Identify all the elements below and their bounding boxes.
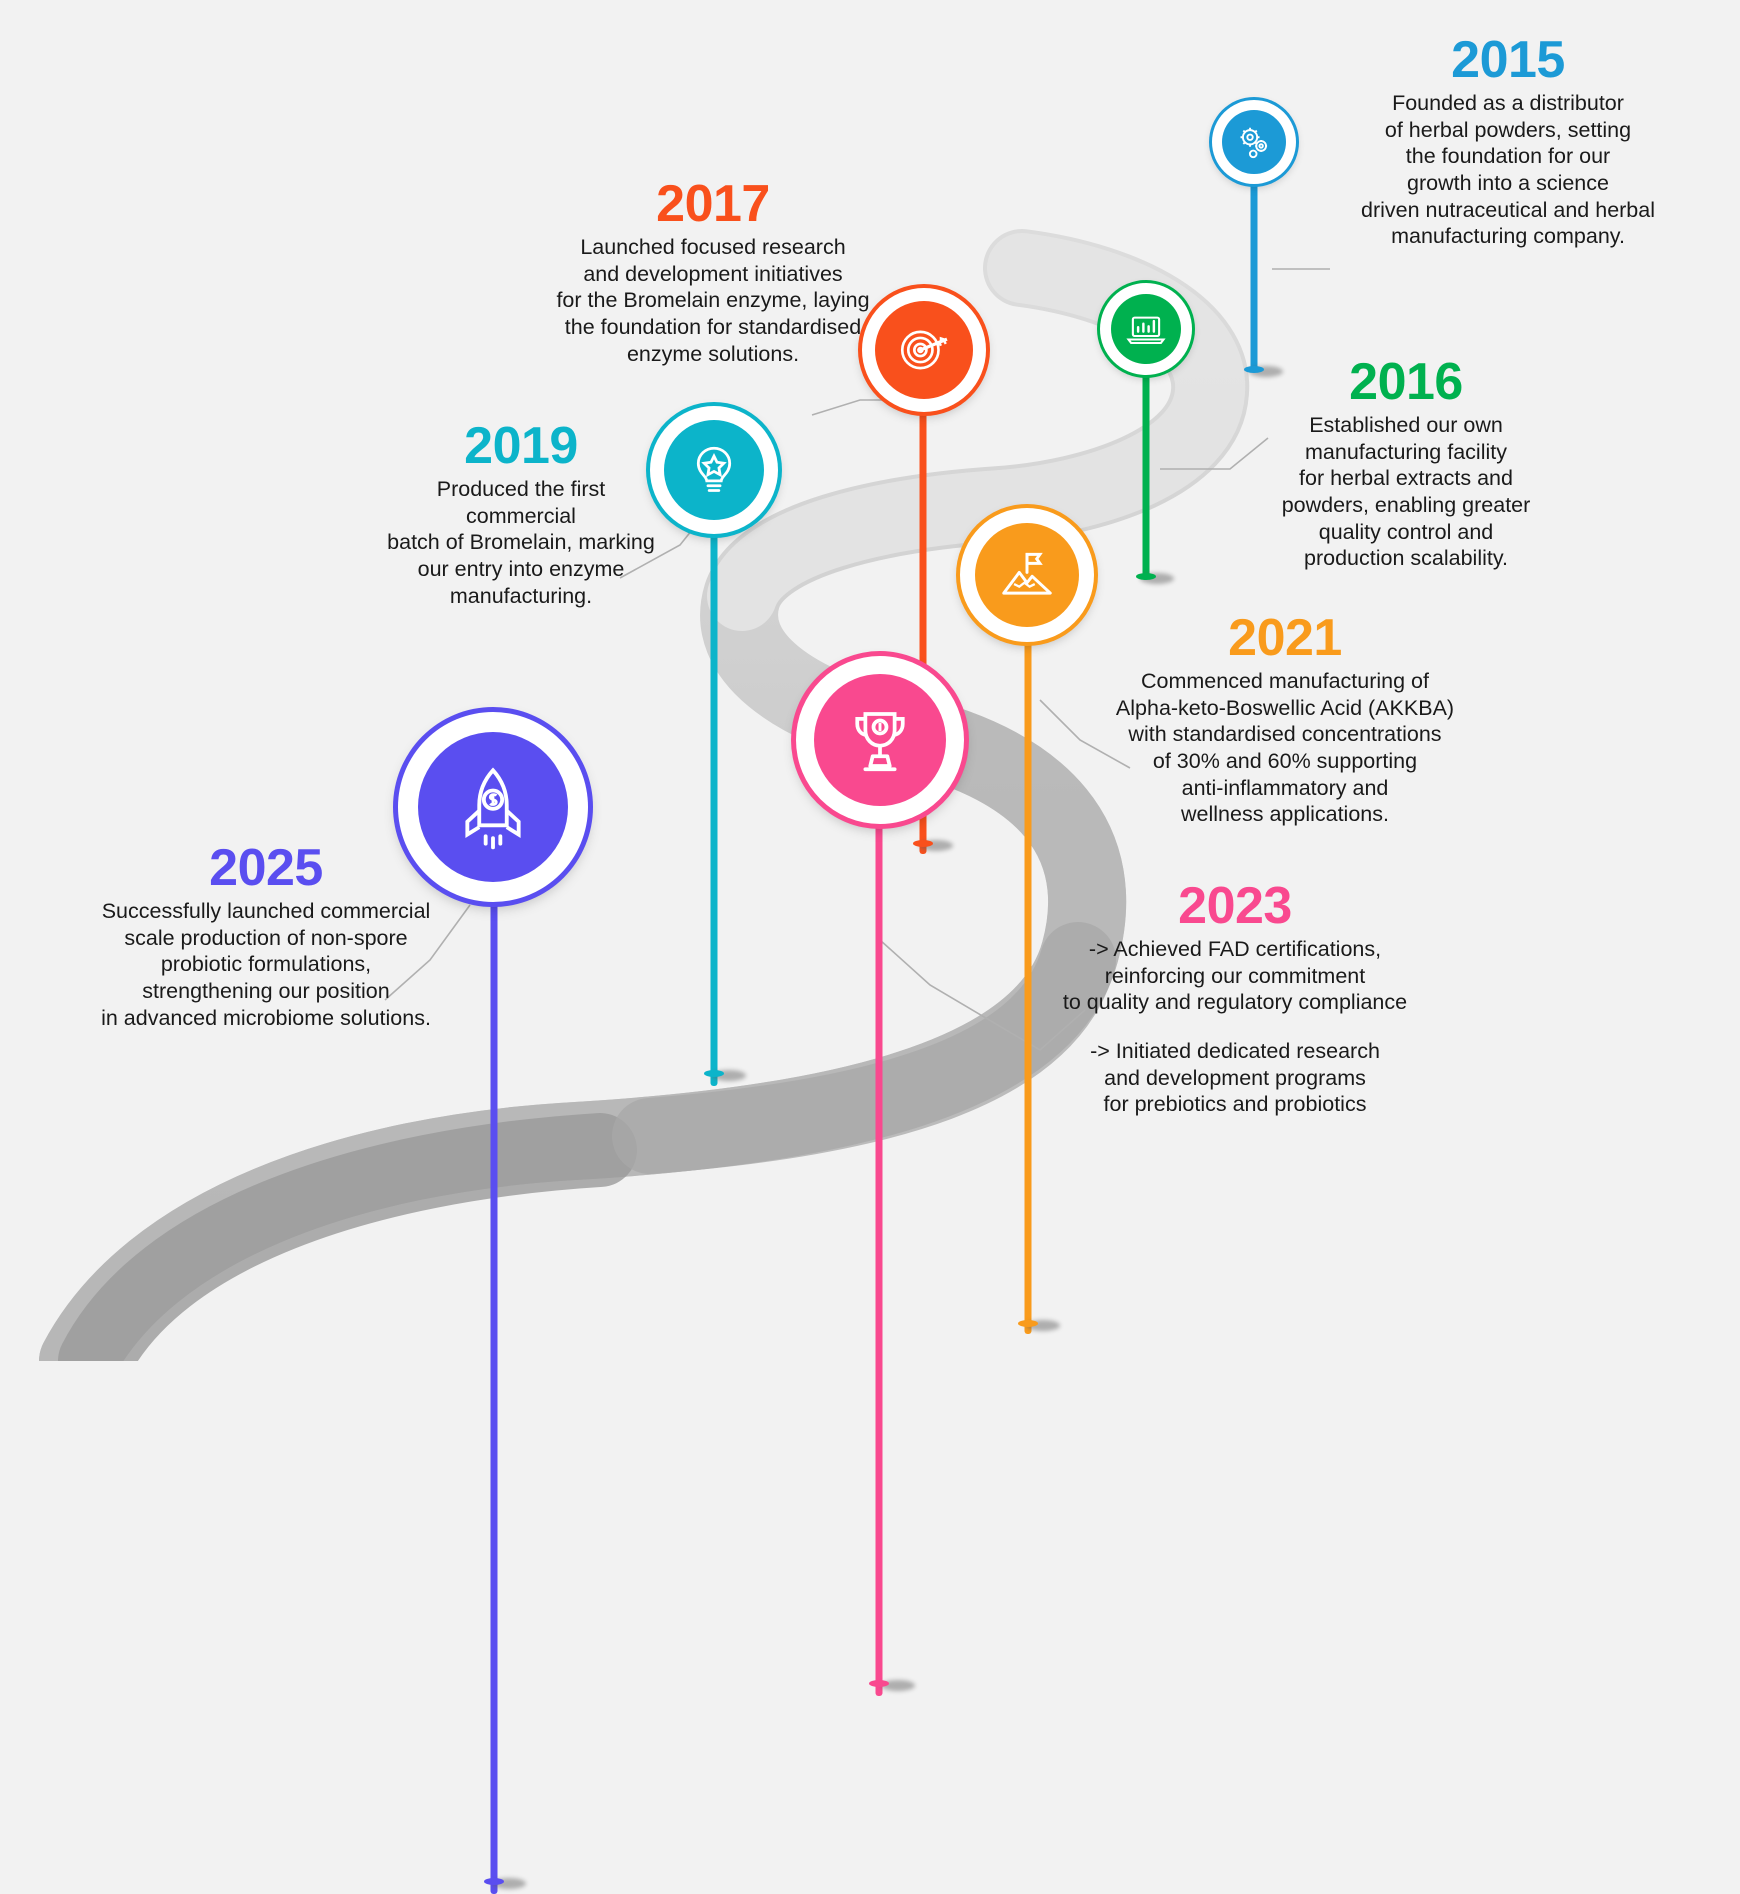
mountain-flag-icon <box>996 544 1058 606</box>
bubble-fill-2016 <box>1111 294 1181 364</box>
milestone-bubble-2015[interactable] <box>1212 100 1296 184</box>
pin-stem-2025 <box>491 894 498 1894</box>
milestone-year-2023: 2023 <box>1040 880 1430 932</box>
milestone-bubble-2016[interactable] <box>1100 283 1192 375</box>
milestone-bubble-2017[interactable] <box>862 288 986 412</box>
milestone-text-2017: 2017 Launched focused research and devel… <box>548 178 878 367</box>
milestone-marker-2016[interactable] <box>1100 283 1192 498</box>
milestone-desc-2016: Established our own manufacturing facili… <box>1196 412 1616 572</box>
rocket-dollar-icon <box>449 763 537 851</box>
bubble-fill-2017 <box>875 301 973 399</box>
milestone-year-2016: 2016 <box>1196 356 1616 408</box>
bubble-fill-2023 <box>814 674 946 806</box>
pin-foot-2016 <box>1136 573 1156 580</box>
pin-stem-2016 <box>1143 365 1150 577</box>
milestone-year-2025: 2025 <box>96 842 436 894</box>
trophy-icon <box>841 701 919 779</box>
bubble-fill-2015 <box>1222 110 1286 174</box>
milestone-marker-2023[interactable] <box>796 656 966 956</box>
milestone-marker-2015[interactable] <box>1212 100 1296 300</box>
milestone-year-2021: 2021 <box>1100 612 1470 664</box>
milestone-bubble-2021[interactable] <box>960 508 1094 642</box>
milestone-desc-2023-a: -> Achieved FAD certifications, reinforc… <box>1040 936 1430 1016</box>
lightbulb-star-icon <box>685 441 743 499</box>
bubble-fill-2021 <box>975 523 1079 627</box>
milestone-year-2017: 2017 <box>548 178 878 230</box>
pin-foot-2025 <box>484 1878 504 1885</box>
pin-stem-2019 <box>711 526 718 1086</box>
milestone-desc-2015: Founded as a distributor of herbal powde… <box>1288 90 1728 250</box>
gears-icon <box>1235 123 1273 161</box>
milestone-marker-2021[interactable] <box>960 508 1094 808</box>
milestone-text-2016: 2016 Established our own manufacturing f… <box>1196 356 1616 572</box>
milestone-year-2015: 2015 <box>1288 34 1728 86</box>
pin-foot-2021 <box>1018 1320 1038 1327</box>
milestone-text-2021: 2021 Commenced manufacturing of Alpha-ke… <box>1100 612 1470 828</box>
milestone-desc-2021: Commenced manufacturing of Alpha-keto-Bo… <box>1100 668 1470 828</box>
pin-foot-2019 <box>704 1070 724 1077</box>
milestone-marker-2019[interactable] <box>650 406 778 686</box>
pin-stem-2015 <box>1251 174 1258 370</box>
pin-stem-2023 <box>876 816 883 1696</box>
milestone-text-2019: 2019 Produced the first commercial batch… <box>380 420 662 609</box>
milestone-text-2023: 2023 -> Achieved FAD certifications, rei… <box>1040 880 1430 1118</box>
milestone-bubble-2023[interactable] <box>796 656 964 824</box>
milestone-desc-2017: Launched focused research and developmen… <box>548 234 878 367</box>
milestone-text-2025: 2025 Successfully launched commercial sc… <box>96 842 436 1031</box>
target-dart-icon <box>895 321 953 379</box>
milestone-desc-2023-b: -> Initiated dedicated research and deve… <box>1040 1038 1430 1118</box>
pin-foot-2023 <box>869 1680 889 1687</box>
milestone-year-2019: 2019 <box>380 420 662 472</box>
timeline-infographic: 2015 Founded as a distributor of herbal … <box>0 0 1740 1361</box>
milestone-text-2015: 2015 Founded as a distributor of herbal … <box>1288 34 1728 250</box>
milestone-desc-2025: Successfully launched commercial scale p… <box>96 898 436 1031</box>
bubble-fill-2025 <box>418 732 568 882</box>
bubble-fill-2019 <box>664 420 764 520</box>
laptop-chart-icon <box>1125 308 1167 350</box>
pin-stem-2021 <box>1025 634 1032 1334</box>
milestone-bubble-2019[interactable] <box>650 406 778 534</box>
milestone-desc-2019: Produced the first commercial batch of B… <box>380 476 662 609</box>
